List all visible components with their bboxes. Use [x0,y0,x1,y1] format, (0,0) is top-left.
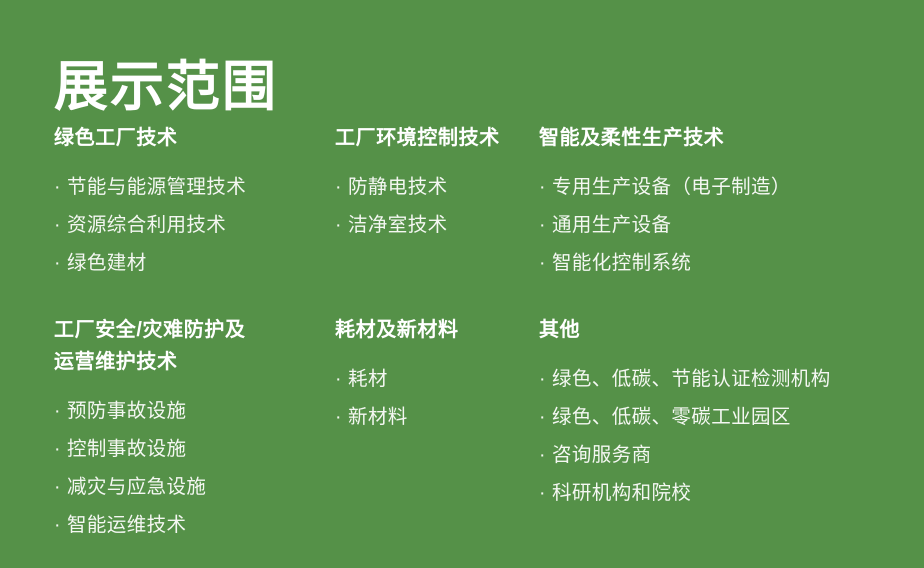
list-item[interactable]: · 防静电技术 [335,168,522,206]
group-title-line: 其他 [539,314,924,346]
group-title: 其他 [539,314,924,346]
group-title: 工厂安全/灾难防护及 运营维护技术 [54,314,280,378]
list-item[interactable]: · 咨询服务商 [539,436,924,474]
bullet-icon: · [54,506,67,544]
group-title-line: 耗材及新材料 [335,314,522,346]
list-item-label: 预防事故设施 [67,392,186,430]
bullet-icon: · [335,360,348,398]
list-item[interactable]: · 绿色、低碳、零碳工业园区 [539,398,924,436]
list-item[interactable]: · 洁净室技术 [335,206,522,244]
item-list: · 预防事故设施 · 控制事故设施 · 减灾与应急设施 · 智能运维技术 [54,392,280,544]
list-item-label: 智能运维技术 [67,506,186,544]
bullet-icon: · [54,244,67,282]
group-title-line: 运营维护技术 [54,346,280,378]
group-title-line: 绿色工厂技术 [54,122,280,154]
list-item[interactable]: · 绿色、低碳、节能认证检测机构 [539,360,924,398]
list-item-label: 科研机构和院校 [552,474,691,512]
list-item[interactable]: · 新材料 [335,398,522,436]
item-list: · 专用生产设备（电子制造） · 通用生产设备 · 智能化控制系统 [539,168,924,282]
list-item[interactable]: · 减灾与应急设施 [54,468,280,506]
list-item-label: 绿色建材 [67,244,147,282]
item-list: · 绿色、低碳、节能认证检测机构 · 绿色、低碳、零碳工业园区 · 咨询服务商 … [539,360,924,512]
category-group-factory-safety: 工厂安全/灾难防护及 运营维护技术 · 预防事故设施 · 控制事故设施 · 减灾… [0,314,280,544]
category-group-consumables-new-materials: 耗材及新材料 · 耗材 · 新材料 [280,314,522,544]
item-list: · 耗材 · 新材料 [335,360,522,436]
bullet-icon: · [335,398,348,436]
list-item[interactable]: · 通用生产设备 [539,206,924,244]
list-item-label: 洁净室技术 [348,206,448,244]
group-title-line: 工厂安全/灾难防护及 [54,314,280,346]
category-group-other: 其他 · 绿色、低碳、节能认证检测机构 · 绿色、低碳、零碳工业园区 · 咨询服… [522,314,924,544]
list-item[interactable]: · 耗材 [335,360,522,398]
page-title: 展示范围 [54,54,278,120]
item-list: · 防静电技术 · 洁净室技术 [335,168,522,244]
group-title: 智能及柔性生产技术 [539,122,924,154]
bullet-icon: · [539,206,552,244]
bullet-icon: · [539,360,552,398]
list-item[interactable]: · 科研机构和院校 [539,474,924,512]
bullet-icon: · [54,468,67,506]
category-group-green-factory: 绿色工厂技术 · 节能与能源管理技术 · 资源综合利用技术 · 绿色建材 [0,122,280,314]
list-item-label: 节能与能源管理技术 [67,168,246,206]
list-item[interactable]: · 资源综合利用技术 [54,206,280,244]
list-item-label: 减灾与应急设施 [67,468,206,506]
group-title: 耗材及新材料 [335,314,522,346]
item-list: · 节能与能源管理技术 · 资源综合利用技术 · 绿色建材 [54,168,280,282]
list-item-label: 咨询服务商 [552,436,652,474]
list-item[interactable]: · 智能化控制系统 [539,244,924,282]
list-item-label: 控制事故设施 [67,430,186,468]
bullet-icon: · [539,436,552,474]
bullet-icon: · [539,398,552,436]
group-title: 绿色工厂技术 [54,122,280,154]
slide-root: 展示范围 绿色工厂技术 · 节能与能源管理技术 · 资源综合利用技术 · 绿色建… [0,0,924,568]
bullet-icon: · [54,430,67,468]
list-item[interactable]: · 绿色建材 [54,244,280,282]
bullet-icon: · [539,244,552,282]
list-item[interactable]: · 智能运维技术 [54,506,280,544]
bullet-icon: · [335,168,348,206]
list-item-label: 防静电技术 [348,168,448,206]
list-item-label: 通用生产设备 [552,206,671,244]
list-item-label: 专用生产设备（电子制造） [552,168,791,206]
list-item-label: 绿色、低碳、节能认证检测机构 [552,360,831,398]
bullet-icon: · [539,474,552,512]
list-item-label: 资源综合利用技术 [67,206,226,244]
list-item[interactable]: · 控制事故设施 [54,430,280,468]
group-title-line: 智能及柔性生产技术 [539,122,924,154]
list-item-label: 智能化控制系统 [552,244,691,282]
list-item[interactable]: · 节能与能源管理技术 [54,168,280,206]
list-item-label: 耗材 [348,360,388,398]
category-group-smart-flexible-production: 智能及柔性生产技术 · 专用生产设备（电子制造） · 通用生产设备 · 智能化控… [522,122,924,314]
bullet-icon: · [54,168,67,206]
bullet-icon: · [54,206,67,244]
group-title-line: 工厂环境控制技术 [335,122,522,154]
category-group-factory-environment: 工厂环境控制技术 · 防静电技术 · 洁净室技术 [280,122,522,314]
bullet-icon: · [54,392,67,430]
bullet-icon: · [539,168,552,206]
list-item[interactable]: · 专用生产设备（电子制造） [539,168,924,206]
list-item-label: 绿色、低碳、零碳工业园区 [552,398,791,436]
category-grid: 绿色工厂技术 · 节能与能源管理技术 · 资源综合利用技术 · 绿色建材 工厂 [0,122,924,544]
list-item-label: 新材料 [348,398,408,436]
group-title: 工厂环境控制技术 [335,122,522,154]
list-item[interactable]: · 预防事故设施 [54,392,280,430]
bullet-icon: · [335,206,348,244]
